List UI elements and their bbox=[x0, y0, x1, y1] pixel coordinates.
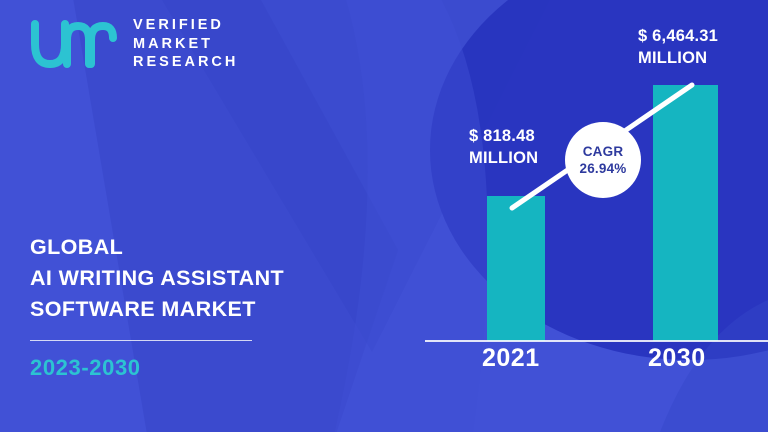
brand-name-line-3: RESEARCH bbox=[133, 55, 238, 71]
value-label-2021: $ 818.48 MILLION bbox=[469, 126, 538, 170]
cagr-value: 26.94% bbox=[580, 161, 627, 177]
value-label-2030-amount: $ 6,464.31 bbox=[638, 26, 718, 48]
brand-name-line-2: MARKET bbox=[133, 37, 238, 53]
infographic-canvas: VERIFIED MARKET RESEARCH GLOBAL AI WRITI… bbox=[0, 0, 768, 432]
cagr-badge: CAGR 26.94% bbox=[565, 122, 641, 198]
forecast-period: 2023-2030 bbox=[30, 355, 330, 381]
bar-chart: $ 818.48 MILLION $ 6,464.31 MILLION CAGR… bbox=[410, 0, 768, 432]
brand-name-line-1: VERIFIED bbox=[133, 18, 238, 34]
value-label-2030-unit: MILLION bbox=[638, 48, 718, 70]
chart-baseline bbox=[425, 340, 768, 342]
title-line-1: GLOBAL bbox=[30, 232, 330, 263]
value-label-2021-unit: MILLION bbox=[469, 148, 538, 170]
title-line-3: SOFTWARE MARKET bbox=[30, 294, 330, 325]
title-line-2: AI WRITING ASSISTANT bbox=[30, 263, 330, 294]
vmr-monogram-icon bbox=[31, 18, 119, 70]
brand-logo[interactable]: VERIFIED MARKET RESEARCH bbox=[31, 18, 238, 71]
value-label-2021-amount: $ 818.48 bbox=[469, 126, 538, 148]
axis-label-2030: 2030 bbox=[648, 344, 706, 373]
cagr-label: CAGR bbox=[583, 144, 624, 160]
report-title-block: GLOBAL AI WRITING ASSISTANT SOFTWARE MAR… bbox=[30, 232, 330, 381]
title-divider bbox=[30, 340, 252, 342]
value-label-2030: $ 6,464.31 MILLION bbox=[638, 26, 718, 70]
axis-label-2021: 2021 bbox=[482, 344, 540, 373]
brand-name: VERIFIED MARKET RESEARCH bbox=[133, 18, 238, 71]
